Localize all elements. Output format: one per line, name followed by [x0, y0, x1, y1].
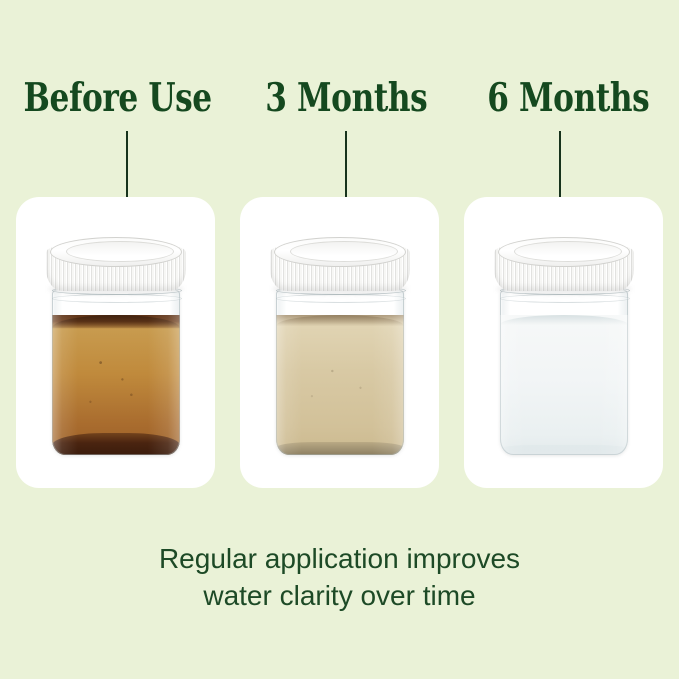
sediment-layer	[52, 433, 180, 455]
jar-card-6-months	[464, 197, 663, 488]
caption-line-2: water clarity over time	[0, 577, 679, 614]
lid-inner-ring	[66, 241, 174, 262]
caption-block: Regular application improves water clari…	[0, 540, 679, 614]
connector-line-before-use	[126, 131, 128, 205]
liquid-particles	[276, 315, 404, 455]
stage-title: Before Use	[24, 79, 212, 118]
white-metal-lid-icon	[270, 237, 410, 299]
connector-line-6-months	[559, 131, 561, 205]
stage-title: 3 Months	[265, 79, 427, 118]
connector-line-3-months	[345, 131, 347, 205]
stage-title: 6 Months	[487, 79, 649, 118]
jar-card-before-use	[16, 197, 215, 488]
lid-top-disc	[498, 237, 630, 267]
liquid-fill	[500, 315, 628, 455]
jar-glass-body	[500, 289, 628, 455]
stage-header-row: Before Use 3 Months 6 Months	[0, 0, 679, 132]
mason-jar-icon	[46, 237, 186, 455]
lid-top-disc	[50, 237, 182, 267]
mason-jar-icon	[494, 237, 634, 455]
sediment-layer	[276, 442, 404, 455]
jar-glass-body	[52, 289, 180, 455]
stage-header-3-months: 3 Months	[235, 79, 457, 132]
white-metal-lid-icon	[46, 237, 186, 299]
stage-header-6-months: 6 Months	[457, 79, 679, 132]
water-clarity-infographic: Before Use 3 Months 6 Months	[0, 0, 679, 679]
jar-card-row	[16, 197, 663, 488]
mason-jar-icon	[270, 237, 410, 455]
caption-line-1: Regular application improves	[0, 540, 679, 577]
sediment-layer	[500, 445, 628, 455]
jar-card-3-months	[240, 197, 439, 488]
lid-inner-ring	[514, 241, 622, 262]
jar-glass-body	[276, 289, 404, 455]
lid-top-disc	[274, 237, 406, 267]
jar-liquid-before-use	[52, 315, 180, 455]
stage-header-before-use: Before Use	[0, 79, 235, 132]
lid-inner-ring	[290, 241, 398, 262]
jar-liquid-6-months	[500, 315, 628, 455]
white-metal-lid-icon	[494, 237, 634, 299]
jar-liquid-3-months	[276, 315, 404, 455]
